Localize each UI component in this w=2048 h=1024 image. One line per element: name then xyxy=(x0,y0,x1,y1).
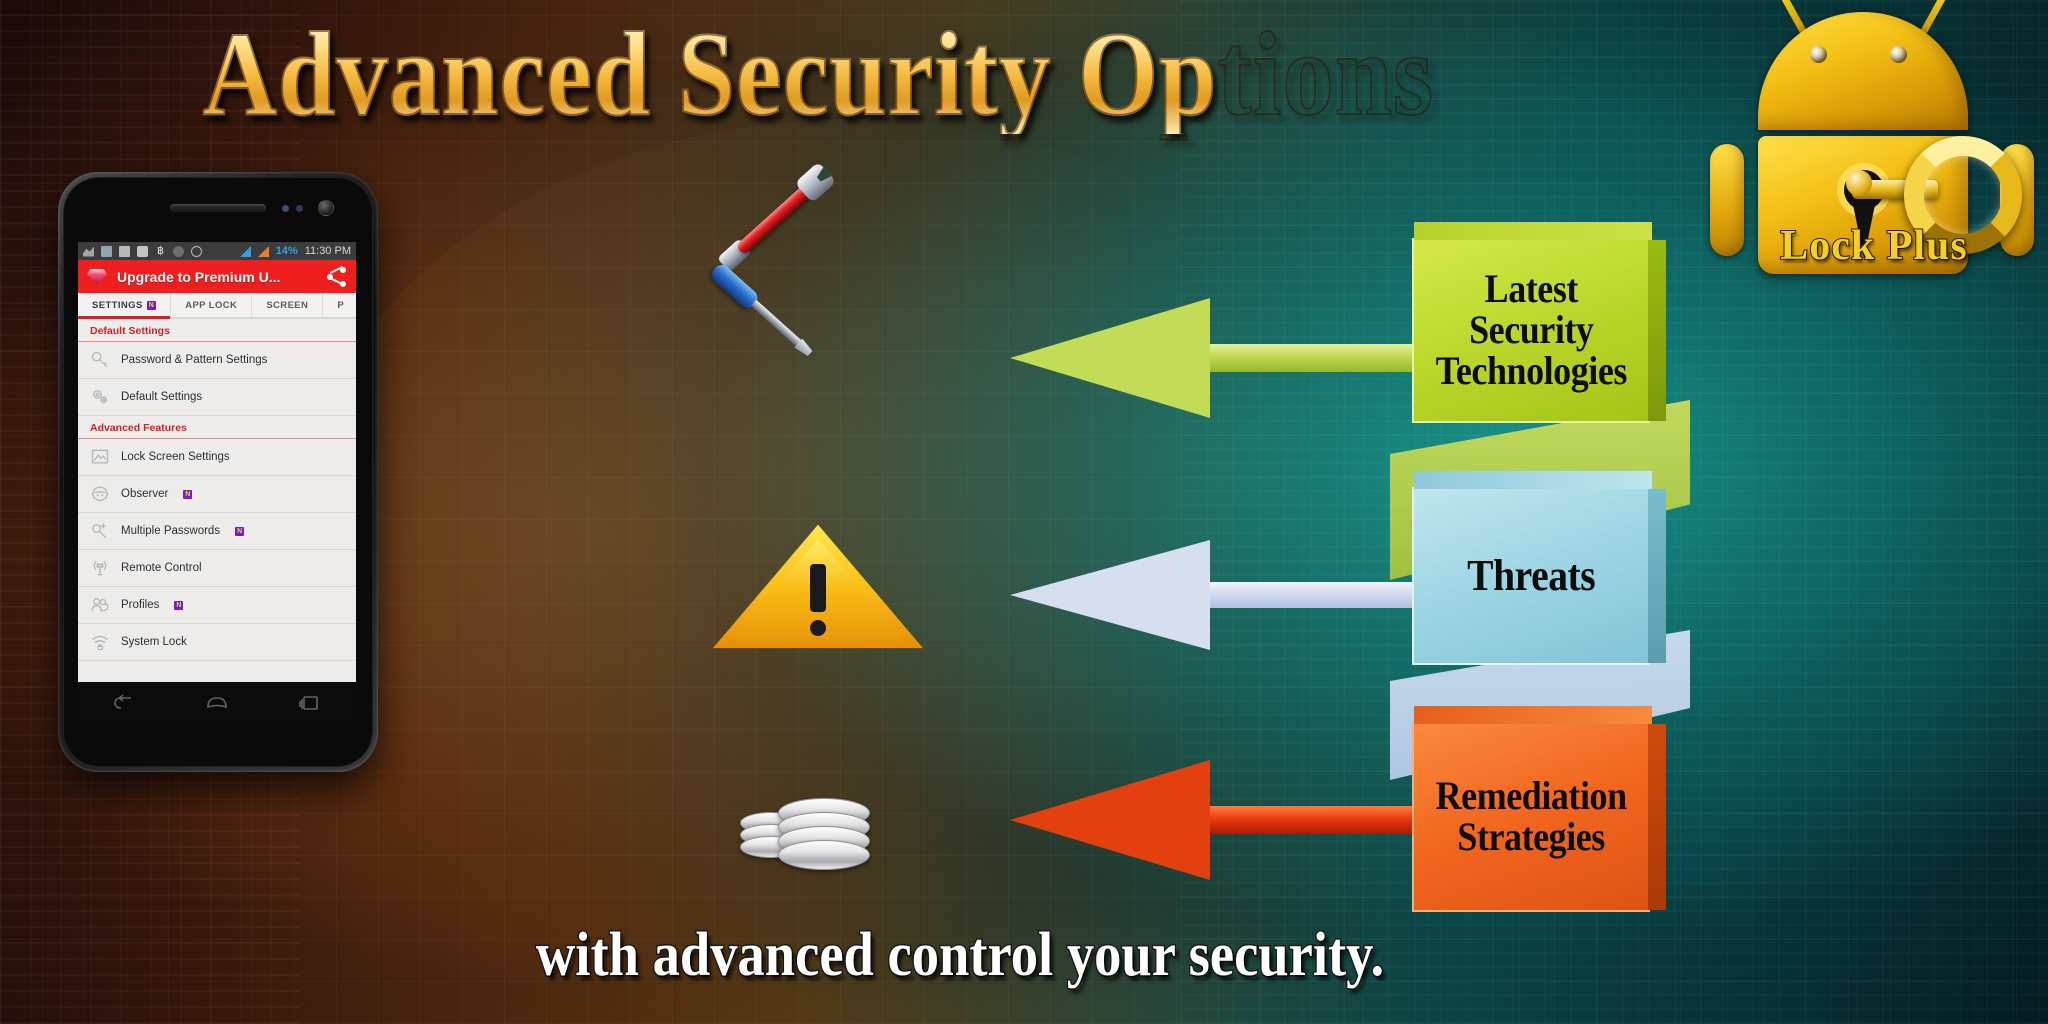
antenna-right-icon xyxy=(1920,0,1947,35)
new-badge: N xyxy=(147,301,156,310)
callout-line-1: Latest xyxy=(1435,269,1626,310)
note-icon xyxy=(101,246,112,257)
android-nav-bar[interactable] xyxy=(78,682,356,724)
arrow-remediation-strategies xyxy=(1010,760,1400,880)
tab-settings[interactable]: SETTINGS N xyxy=(78,293,171,317)
notification-led xyxy=(282,205,289,212)
callout-box-remediation-strategies: Remediation Strategies xyxy=(1412,722,1650,912)
list-item-profiles[interactable]: Profiles N xyxy=(78,587,356,624)
callout-line-2: Security xyxy=(1435,310,1626,351)
bluetooth-icon: ฿ xyxy=(155,246,166,257)
sync-icon xyxy=(83,246,94,257)
callout-text: Threats xyxy=(1467,554,1595,599)
callout-line-3: Technologies xyxy=(1435,351,1626,392)
list-item-remote-control[interactable]: Remote Control xyxy=(78,550,356,587)
section-header-advanced-features: Advanced Features xyxy=(78,416,356,439)
tab-app-lock-label: APP LOCK xyxy=(185,300,237,311)
callout-line-1: Threats xyxy=(1467,554,1595,599)
callout-text: Remediation Strategies xyxy=(1435,776,1626,858)
box-top-face xyxy=(1414,222,1652,240)
callout-text: Latest Security Technologies xyxy=(1435,269,1626,391)
banner-subline: with advanced control your security. xyxy=(406,920,1515,991)
signal-icon xyxy=(258,246,269,257)
battery-level: 14% xyxy=(276,245,298,257)
list-item-lock-screen-settings[interactable]: Lock Screen Settings xyxy=(78,439,356,476)
list-item-label: Password & Pattern Settings xyxy=(121,354,267,366)
alarm-icon xyxy=(191,246,202,257)
tab-screen-label: SCREEN xyxy=(266,300,308,311)
key-plus-icon xyxy=(90,521,110,541)
list-item-label: Observer xyxy=(121,488,168,500)
upgrade-to-premium-title[interactable]: Upgrade to Premium U... xyxy=(117,269,317,285)
earpiece xyxy=(170,204,266,212)
tab-next[interactable]: P xyxy=(323,293,356,317)
gears-icon xyxy=(90,387,110,407)
image-icon xyxy=(119,246,130,257)
tab-bar: SETTINGS N APP LOCK SCREEN P xyxy=(78,293,356,319)
list-item-label: Profiles xyxy=(121,599,159,611)
signal-icon xyxy=(240,246,251,257)
list-item-label: Multiple Passwords xyxy=(121,525,220,537)
new-badge: N xyxy=(174,601,183,610)
screwdriver-icon xyxy=(708,261,818,363)
home-icon[interactable] xyxy=(204,692,230,714)
list-item-multiple-passwords[interactable]: Multiple Passwords N xyxy=(78,513,356,550)
new-badge: N xyxy=(235,527,244,536)
list-item-observer[interactable]: Observer N xyxy=(78,476,356,513)
banner-headline: Advanced Security Options xyxy=(203,14,1218,134)
promo-banner: Advanced Security Options with advanced … xyxy=(0,0,2048,1024)
android-eye-right-icon xyxy=(1890,46,1907,63)
arrow-threats xyxy=(1010,540,1400,650)
list-item-label: System Lock xyxy=(121,636,187,648)
warning-icon xyxy=(713,522,923,652)
callout-box-latest-security-technologies: Latest Security Technologies xyxy=(1412,238,1650,423)
camera-icon xyxy=(137,246,148,257)
spy-icon xyxy=(90,484,110,504)
box-side-face xyxy=(1648,489,1666,663)
box-side-face xyxy=(1648,724,1666,910)
section-header-default-settings: Default Settings xyxy=(78,319,356,342)
back-icon[interactable] xyxy=(111,692,137,714)
box-top-face xyxy=(1414,706,1652,724)
phone-screen: ฿ 14% 11:30 PM Upgrade to Premium U... xyxy=(78,242,356,682)
wifi-lock-icon xyxy=(90,632,110,652)
settings-list[interactable]: Default Settings Password & Pattern Sett… xyxy=(78,319,356,682)
image-icon xyxy=(90,447,110,467)
share-icon[interactable] xyxy=(327,267,347,287)
sensor-dot xyxy=(296,205,303,212)
phone-mockup: ฿ 14% 11:30 PM Upgrade to Premium U... xyxy=(58,172,378,772)
mute-icon xyxy=(173,246,184,257)
tab-next-label: P xyxy=(337,300,344,311)
app-logo: Lock Plus xyxy=(1694,0,2048,294)
people-icon xyxy=(90,595,110,615)
list-item-label: Remote Control xyxy=(121,562,202,574)
status-bar: ฿ 14% 11:30 PM xyxy=(78,242,356,260)
phone-bezel: ฿ 14% 11:30 PM Upgrade to Premium U... xyxy=(63,177,373,767)
list-item-label: Lock Screen Settings xyxy=(121,451,230,463)
recents-icon[interactable] xyxy=(297,692,323,714)
callout-box-threats: Threats xyxy=(1412,487,1650,665)
tools-icon xyxy=(705,238,895,393)
list-item-default-settings[interactable]: Default Settings xyxy=(78,379,356,416)
active-tab-indicator xyxy=(78,316,170,319)
android-head-icon xyxy=(1758,12,1968,130)
callout-line-2: Strategies xyxy=(1435,817,1626,858)
tab-app-lock[interactable]: APP LOCK xyxy=(171,293,252,317)
status-time: 11:30 PM xyxy=(305,245,351,257)
android-eye-left-icon xyxy=(1810,46,1827,63)
tab-settings-label: SETTINGS xyxy=(92,300,143,311)
key-bit-icon xyxy=(1846,170,1872,196)
new-badge: N xyxy=(183,490,192,499)
logo-label: Lock Plus xyxy=(1694,222,2048,270)
list-item-password-pattern-settings[interactable]: Password & Pattern Settings xyxy=(78,342,356,379)
box-side-face xyxy=(1648,240,1666,421)
list-item-label: Default Settings xyxy=(121,391,202,403)
antenna-icon xyxy=(90,558,110,578)
box-top-face xyxy=(1414,471,1652,489)
callout-line-1: Remediation xyxy=(1435,776,1626,817)
gem-icon xyxy=(87,269,107,285)
database-icon xyxy=(740,790,900,880)
action-bar: Upgrade to Premium U... xyxy=(78,260,356,293)
list-item-system-lock[interactable]: System Lock xyxy=(78,624,356,661)
tab-screen[interactable]: SCREEN xyxy=(252,293,323,317)
arrow-latest-security-technologies xyxy=(1010,298,1400,418)
front-camera-icon xyxy=(318,200,334,216)
key-icon xyxy=(90,350,110,370)
